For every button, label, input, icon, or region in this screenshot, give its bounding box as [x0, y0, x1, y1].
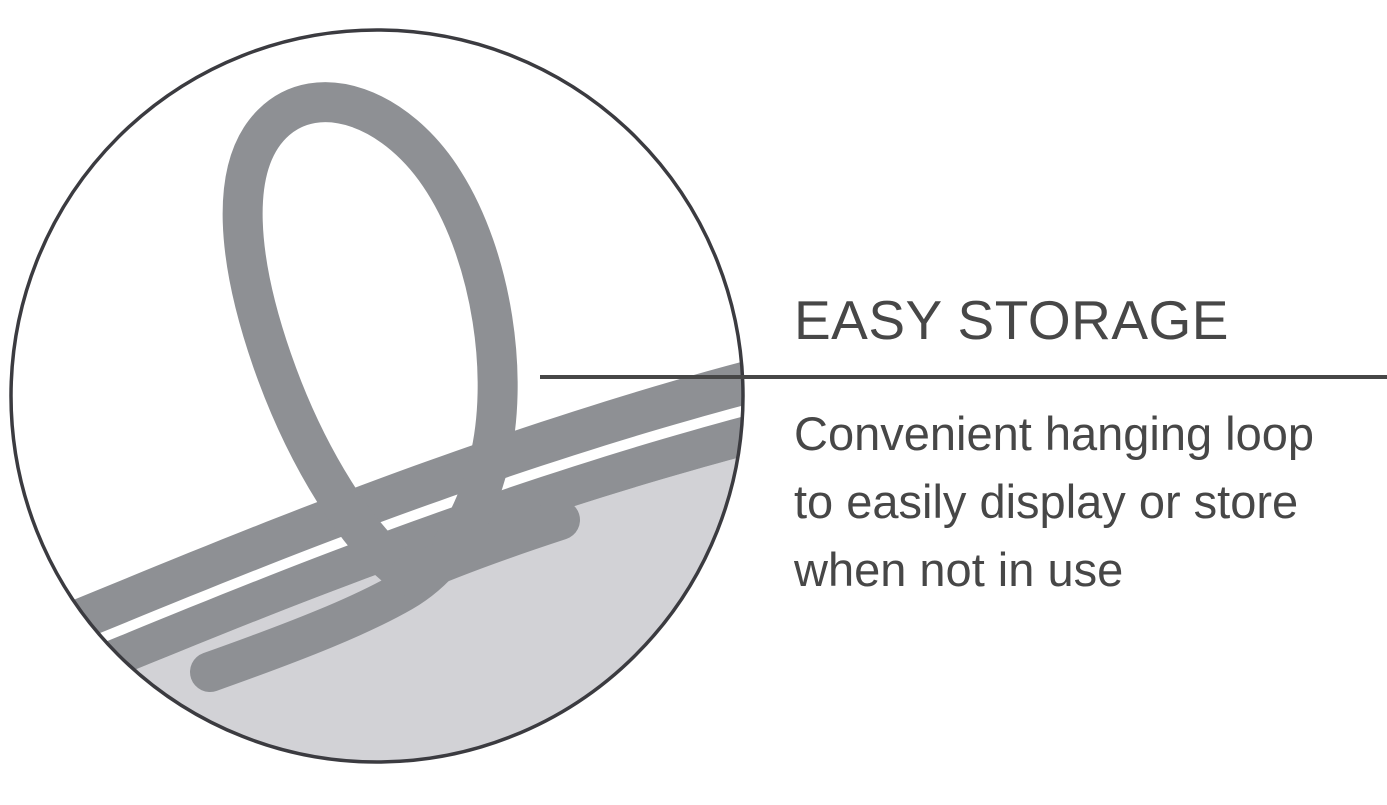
feature-callout-panel: EASY STORAGE Convenient hanging loop to …	[0, 0, 1387, 805]
callout-description-line-3: when not in use	[794, 536, 1369, 604]
callout-description-line-2: to easily display or store	[794, 468, 1369, 536]
callout-description-line-1: Convenient hanging loop	[794, 400, 1369, 468]
callout-description: Convenient hanging loop to easily displa…	[794, 400, 1369, 604]
callout-title: EASY STORAGE	[794, 293, 1229, 348]
